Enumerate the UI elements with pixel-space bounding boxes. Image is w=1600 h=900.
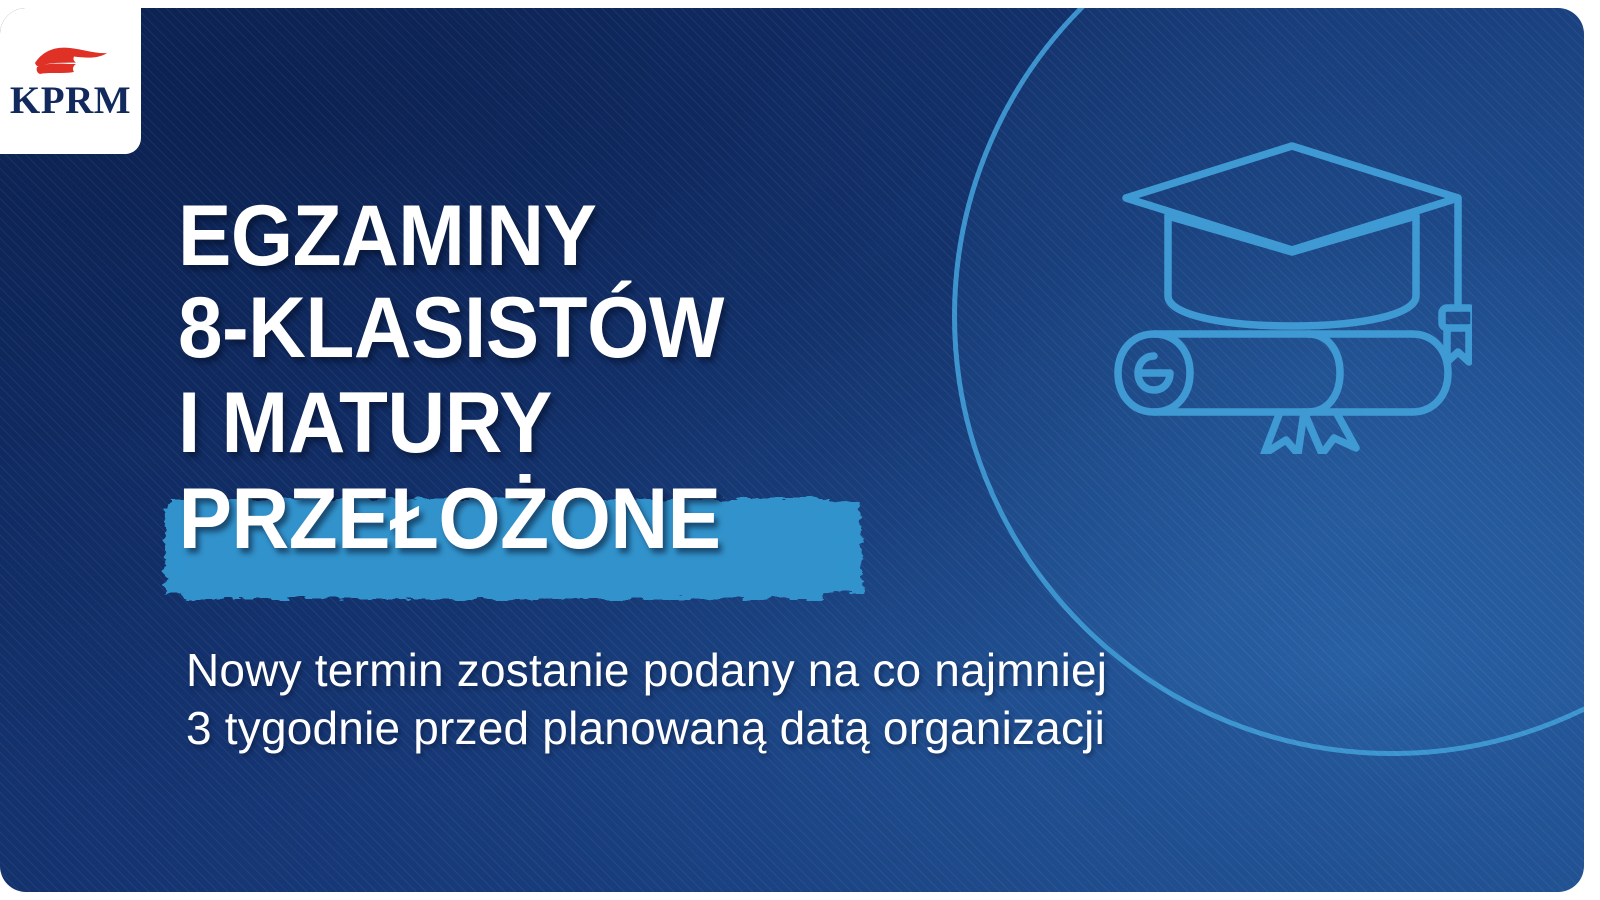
subtitle-block: Nowy termin zostanie podany na co najmni…	[186, 642, 1107, 758]
kprm-logo-text: KPRM	[10, 81, 131, 120]
headline-line-4-highlighted: PRZEŁOŻONE	[160, 471, 752, 571]
subtitle-line-2: 3 tygodnie przed planowaną datą organiza…	[186, 700, 1107, 758]
subtitle-line-1: Nowy termin zostanie podany na co najmni…	[186, 642, 1107, 700]
headline-block: EGZAMINY 8-KLASISTÓW I MATURY PRZEŁOŻONE	[178, 194, 797, 571]
poster-stage: EGZAMINY 8-KLASISTÓW I MATURY PRZEŁOŻONE…	[0, 0, 1600, 900]
headline-line-2: 8-KLASISTÓW	[178, 286, 753, 370]
poster-card: EGZAMINY 8-KLASISTÓW I MATURY PRZEŁOŻONE…	[0, 8, 1584, 892]
kprm-logo-plate: KPRM	[0, 8, 141, 154]
headline-line-3: I MATURY	[178, 381, 753, 465]
graduation-cap-and-diploma-icon	[1112, 124, 1472, 454]
headline-line-1: EGZAMINY	[178, 194, 753, 278]
polish-flag-icon	[32, 43, 110, 77]
